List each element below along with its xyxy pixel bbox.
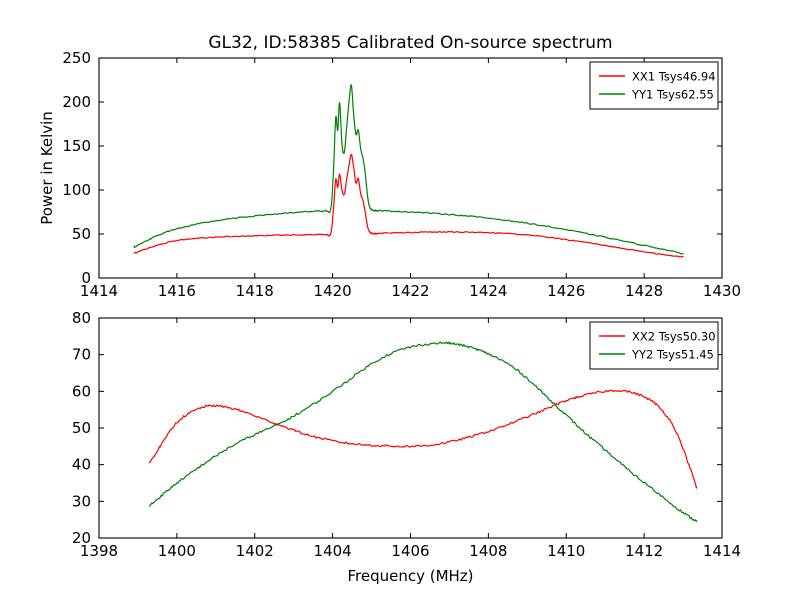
x-tick-label: 1420 <box>314 282 352 300</box>
plot-panel-top-spectrum: 1414141614181420142214241426142814300501… <box>38 33 741 300</box>
x-tick-label: 1416 <box>158 282 196 300</box>
plot-title: GL32, ID:58385 Calibrated On-source spec… <box>208 33 612 53</box>
series-layer <box>134 85 683 257</box>
series-line <box>134 154 683 256</box>
x-tick-label: 1418 <box>236 282 274 300</box>
x-tick-label: 1402 <box>236 542 274 560</box>
y-tick-label: 100 <box>62 181 91 199</box>
y-tick-label: 70 <box>72 346 91 364</box>
x-tick-label: 1410 <box>547 542 585 560</box>
x-tick-label: 1428 <box>625 282 663 300</box>
x-tick-label: 1422 <box>391 282 429 300</box>
y-tick-label: 40 <box>72 456 91 474</box>
x-tick-label: 1400 <box>158 542 196 560</box>
y-tick-label: 20 <box>72 529 91 547</box>
x-tick-label: 1426 <box>547 282 585 300</box>
legend[interactable]: XX2 Tsys50.30YY2 Tsys51.45 <box>590 322 718 369</box>
series-line <box>150 390 697 488</box>
x-tick-label: 1430 <box>703 282 741 300</box>
y-tick-label: 150 <box>62 137 91 155</box>
y-tick-label: 250 <box>62 49 91 67</box>
legend-label: YY1 Tsys62.55 <box>631 88 714 102</box>
spectrum-figure: 1414141614181420142214241426142814300501… <box>0 0 800 600</box>
x-tick-label: 1408 <box>469 542 507 560</box>
x-tick-label: 1406 <box>391 542 429 560</box>
legend[interactable]: XX1 Tsys46.94YY1 Tsys62.55 <box>590 62 718 109</box>
legend-label: XX1 Tsys46.94 <box>632 70 716 84</box>
x-tick-label: 1414 <box>703 542 741 560</box>
y-tick-label: 30 <box>72 492 91 510</box>
y-tick-label: 50 <box>72 419 91 437</box>
y-tick-label: 0 <box>81 269 91 287</box>
x-tick-label: 1424 <box>469 282 507 300</box>
y-tick-label: 80 <box>72 309 91 327</box>
legend-label: XX2 Tsys50.30 <box>632 330 716 344</box>
x-tick-label: 1404 <box>314 542 352 560</box>
y-tick-label: 60 <box>72 382 91 400</box>
legend-label: YY2 Tsys51.45 <box>631 348 714 362</box>
figure-canvas: 1414141614181420142214241426142814300501… <box>0 0 800 600</box>
x-tick-label: 1412 <box>625 542 663 560</box>
series-line <box>134 85 683 254</box>
y-tick-label: 200 <box>62 93 91 111</box>
plot-panel-bottom-spectrum: 1398140014021404140614081410141214142030… <box>72 309 741 585</box>
y-axis-title: Power in Kelvin <box>38 111 56 225</box>
y-tick-label: 50 <box>72 225 91 243</box>
x-axis-title: Frequency (MHz) <box>347 567 473 585</box>
